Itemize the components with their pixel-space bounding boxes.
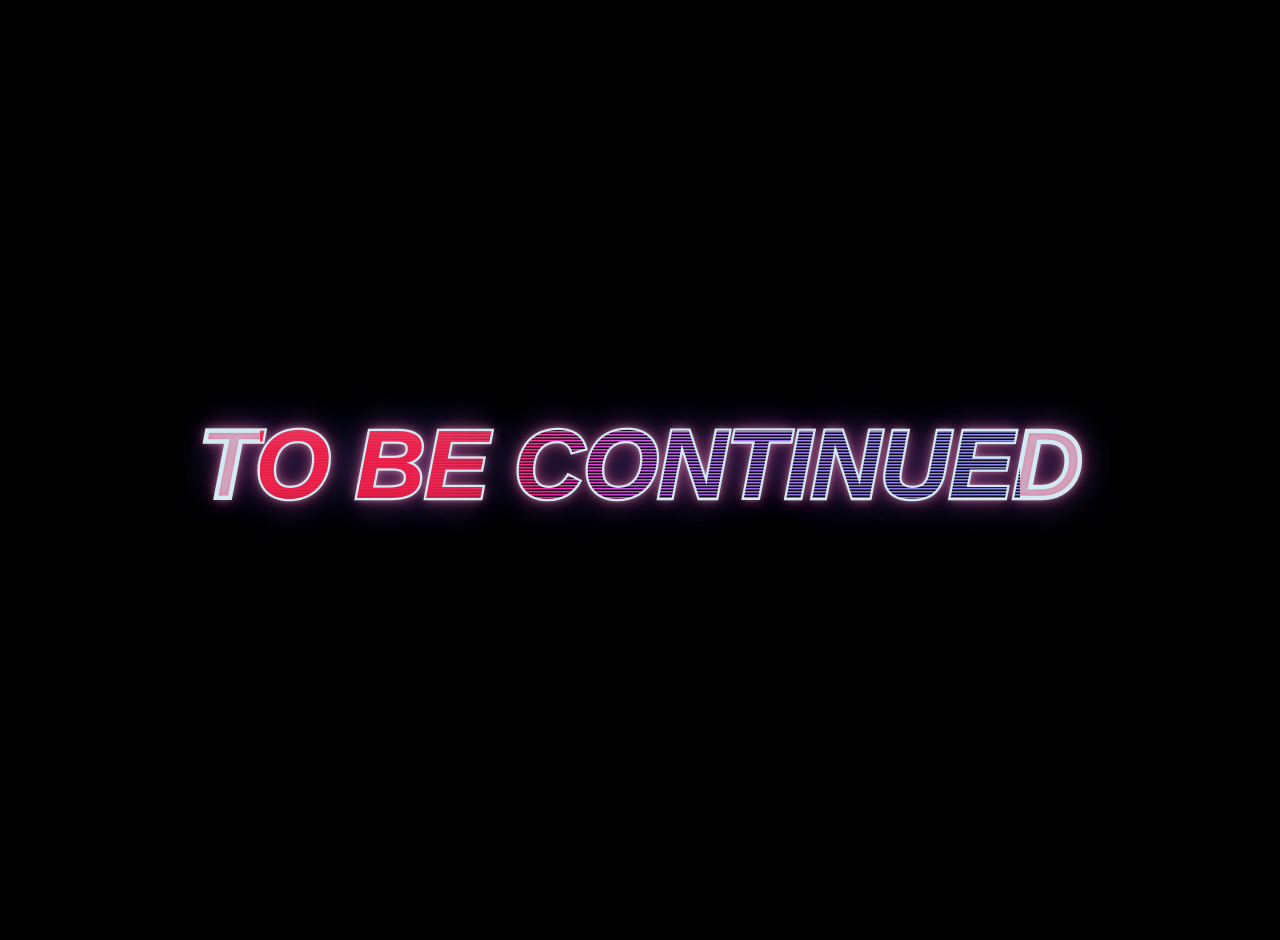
- title-card: TO BE CONTINUED TO BE CONTINUED TO BE CO…: [0, 0, 1280, 940]
- title-layer-stack: TO BE CONTINUED TO BE CONTINUED TO BE CO…: [260, 410, 1020, 520]
- title-scanline-mask: TO BE CONTINUED: [260, 410, 1020, 520]
- title-scanline-layer: TO BE CONTINUED: [260, 410, 1020, 520]
- screen-canvas: TO BE CONTINUED TO BE CONTINUED TO BE CO…: [0, 0, 1280, 940]
